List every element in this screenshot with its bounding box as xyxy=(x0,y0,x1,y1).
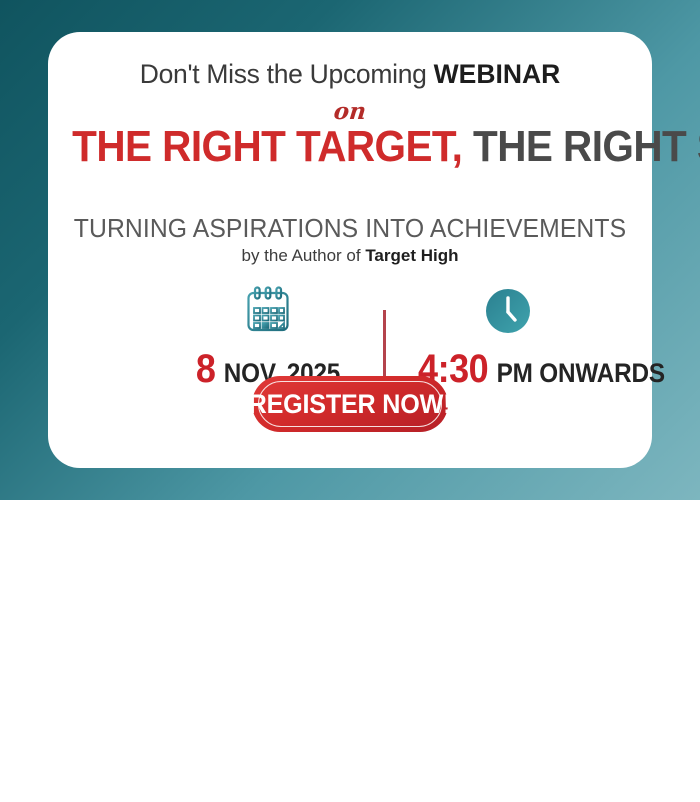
main-title: THE RIGHT TARGET, THE RIGHT STRATEGY xyxy=(72,125,628,169)
byline-book-title: Target High xyxy=(365,246,458,265)
headline-webinar-text: WEBINAR xyxy=(434,59,561,89)
register-now-label: REGISTER NOW! xyxy=(249,389,452,420)
subtitle: TURNING ASPIRATIONS INTO ACHIEVEMENTS xyxy=(57,215,643,244)
byline: by the Author of Target High xyxy=(48,246,652,266)
title-part-dark: THE RIGHT STRATEGY xyxy=(462,122,700,171)
speed-lines-bottom-right-icon xyxy=(382,768,452,802)
clock-icon xyxy=(408,280,608,342)
headline-lead-text: Don't Miss the Upcoming xyxy=(140,59,434,89)
script-on-word: on xyxy=(47,98,654,125)
title-part-red: THE RIGHT TARGET, xyxy=(72,122,462,171)
webinar-poster: Don't Miss the Upcoming WEBINAR on THE R… xyxy=(0,0,700,500)
headline: Don't Miss the Upcoming WEBINAR xyxy=(48,59,652,90)
cta-area: REGISTER NOW! xyxy=(0,366,700,448)
register-now-button[interactable]: REGISTER NOW! xyxy=(252,376,448,432)
byline-lead-text: by the Author of xyxy=(242,246,366,265)
calendar-icon xyxy=(168,280,368,342)
speed-lines-top-left-icon xyxy=(248,732,318,766)
